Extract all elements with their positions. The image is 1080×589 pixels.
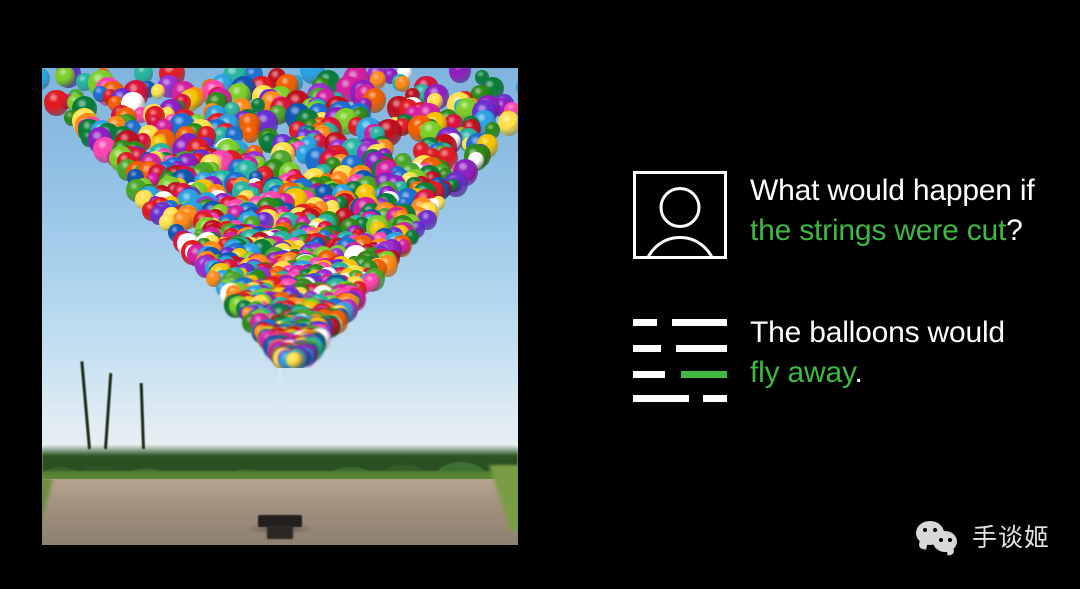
ai-dash-r4-long xyxy=(633,395,689,402)
balloon xyxy=(151,84,165,99)
assistant-message-line-1: The balloons would xyxy=(750,313,1005,353)
assistant-line-2-tail: . xyxy=(855,356,863,389)
user-message-line-2: the strings were cut? xyxy=(750,211,1035,251)
ai-dash-r2-long xyxy=(676,345,727,352)
watermark: 手谈姬 xyxy=(916,518,1050,554)
anchor-table xyxy=(258,515,302,527)
avatar-head-icon xyxy=(660,187,701,228)
ai-dashes-icon xyxy=(633,313,727,401)
balloon-photo xyxy=(42,68,518,545)
user-message-text: What would happen if the strings were cu… xyxy=(750,171,1035,250)
ai-dash-r3-short xyxy=(633,371,665,378)
balloon xyxy=(449,68,470,83)
balloon xyxy=(516,77,518,99)
balloon xyxy=(42,68,50,90)
user-line-1-plain: What would happen if xyxy=(750,174,1035,207)
wechat-dot xyxy=(923,528,927,532)
ai-dash-r1-long xyxy=(672,319,727,326)
user-line-2-tail: ? xyxy=(1006,214,1023,247)
user-message-line-1: What would happen if xyxy=(750,171,1035,211)
user-line-2-accent: the strings were cut xyxy=(750,214,1006,247)
balloon xyxy=(242,124,260,143)
person-avatar-icon xyxy=(633,171,727,259)
ai-dash-r4-short xyxy=(703,395,727,402)
wechat-bubble-small xyxy=(933,531,957,552)
wechat-dot xyxy=(933,528,937,532)
ai-dash-r3-accent xyxy=(681,371,727,378)
conversation-turn-user: What would happen if the strings were cu… xyxy=(633,171,1035,259)
wechat-logo-icon xyxy=(916,519,960,553)
wechat-dot xyxy=(939,538,943,542)
wechat-dot xyxy=(948,538,952,542)
conversation-turn-assistant: The balloons would fly away. xyxy=(633,313,1005,401)
ground-scene xyxy=(42,360,518,545)
watermark-text: 手谈姬 xyxy=(972,518,1050,554)
assistant-line-2-accent: fly away xyxy=(750,356,855,389)
conversation-panel: What would happen if the strings were cu… xyxy=(633,0,1053,589)
assistant-message-text: The balloons would fly away. xyxy=(750,313,1005,392)
ai-dash-r2-short xyxy=(633,345,661,352)
assistant-message-line-2: fly away. xyxy=(750,353,1005,393)
ai-dash-r1-short xyxy=(633,319,657,326)
balloon-cluster xyxy=(42,68,518,368)
avatar-shoulders-icon xyxy=(643,236,717,259)
assistant-line-1-plain: The balloons would xyxy=(750,316,1005,349)
balloon xyxy=(498,111,518,135)
